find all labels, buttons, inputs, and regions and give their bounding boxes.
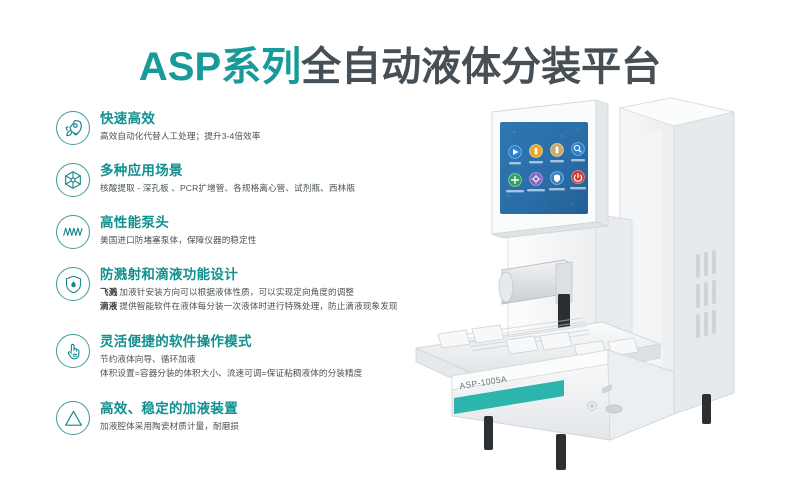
product-illustration: ASP-1005A	[396, 96, 800, 493]
page-title: ASP系列全自动液体分装平台	[0, 34, 800, 92]
product-marketing-page: ASP系列全自动液体分装平台 快速高效 高效自动化代替人工处理；提升3-4倍效率	[0, 0, 800, 493]
touchscreen-head	[492, 100, 608, 238]
feature-desc-text: 加液腔体采用陶瓷材质计量，耐磨损	[100, 421, 239, 431]
feature-title: 快速高效	[100, 111, 261, 127]
rocket-icon	[56, 111, 90, 145]
feature-desc: 节约液体向导、循环加液 体积设置=容器分装的体积大小、流速可调=保证粘稠液体的分…	[100, 353, 362, 379]
feature-body: 高效、稳定的加液装置 加液腔体采用陶瓷材质计量，耐磨损	[100, 400, 239, 432]
page-title-accent: ASP系列	[139, 45, 301, 89]
feature-body: 快速高效 高效自动化代替人工处理；提升3-4倍效率	[100, 110, 261, 142]
hand-touch-icon	[56, 334, 90, 368]
feature-desc-text: 美国进口防堵塞泵体，保障仪器的稳定性	[100, 235, 257, 245]
vent-grille	[696, 250, 716, 338]
feature-desc: 核酸提取 - 深孔板 、PCR扩增管、各规格离心管、试剂瓶、西林瓶	[100, 182, 355, 194]
page-title-main: 全自动液体分装平台	[301, 45, 661, 89]
molecule-hexagon-icon	[56, 163, 90, 197]
feature-title: 高效、稳定的加液装置	[100, 401, 239, 417]
feature-item-pump: 高性能泵头 美国进口防堵塞泵体，保障仪器的稳定性	[56, 214, 257, 249]
feature-body: 多种应用场景 核酸提取 - 深孔板 、PCR扩增管、各规格离心管、试剂瓶、西林瓶	[100, 162, 355, 194]
touchscreen-display[interactable]	[500, 122, 588, 214]
feature-desc-text: 体积设置=容器分装的体积大小、流速可调=保证粘稠液体的分装精度	[100, 368, 362, 378]
feature-item-speed: 快速高效 高效自动化代替人工处理；提升3-4倍效率	[56, 110, 261, 145]
feature-desc: 高效自动化代替人工处理；提升3-4倍效率	[100, 130, 261, 142]
feature-item-splash-drip: 防溅射和滴液功能设计 飞溅加液针安装方向可以根据液体性质，可以实现定向角度的调整…	[56, 266, 398, 312]
triangle-delta-icon	[56, 401, 90, 435]
feature-body: 灵活便捷的软件操作模式 节约液体向导、循环加液 体积设置=容器分装的体积大小、流…	[100, 333, 362, 379]
feature-desc-text: 节约液体向导、循环加液	[100, 354, 196, 364]
feature-body: 高性能泵头 美国进口防堵塞泵体，保障仪器的稳定性	[100, 214, 257, 246]
feature-title: 多种应用场景	[100, 163, 355, 179]
feature-title: 高性能泵头	[100, 215, 257, 231]
feature-body: 防溅射和滴液功能设计 飞溅加液针安装方向可以根据液体性质，可以实现定向角度的调整…	[100, 266, 398, 312]
port-slot	[606, 405, 622, 413]
feature-desc-text: 提供智能软件在液体每分装一次液体时进行特殊处理，防止滴液现象发现	[119, 301, 397, 311]
feature-desc: 美国进口防堵塞泵体，保障仪器的稳定性	[100, 234, 257, 246]
feature-desc-text: 高效自动化代替人工处理；提升3-4倍效率	[100, 131, 261, 141]
feature-item-software: 灵活便捷的软件操作模式 节约液体向导、循环加液 体积设置=容器分装的体积大小、流…	[56, 333, 362, 379]
feature-desc: 飞溅加液针安装方向可以根据液体性质，可以实现定向角度的调整 滴液提供智能软件在液…	[100, 286, 398, 312]
feature-desc-lead: 滴液	[100, 301, 117, 311]
feature-desc-text: 加液针安装方向可以根据液体性质，可以实现定向角度的调整	[119, 287, 354, 297]
feature-desc-text: 核酸提取 - 深孔板 、PCR扩增管、各规格离心管、试剂瓶、西林瓶	[100, 183, 355, 193]
shield-droplet-icon	[56, 267, 90, 301]
feature-title: 防溅射和滴液功能设计	[100, 267, 398, 283]
feature-desc: 加液腔体采用陶瓷材质计量，耐磨损	[100, 420, 239, 432]
feature-item-dosing-device: 高效、稳定的加液装置 加液腔体采用陶瓷材质计量，耐磨损	[56, 400, 239, 435]
feature-desc-lead: 飞溅	[100, 287, 117, 297]
feature-item-applications: 多种应用场景 核酸提取 - 深孔板 、PCR扩增管、各规格离心管、试剂瓶、西林瓶	[56, 162, 355, 197]
product-image: ASP-1005A	[396, 96, 800, 493]
waveform-icon	[56, 215, 90, 249]
feature-title: 灵活便捷的软件操作模式	[100, 334, 362, 350]
